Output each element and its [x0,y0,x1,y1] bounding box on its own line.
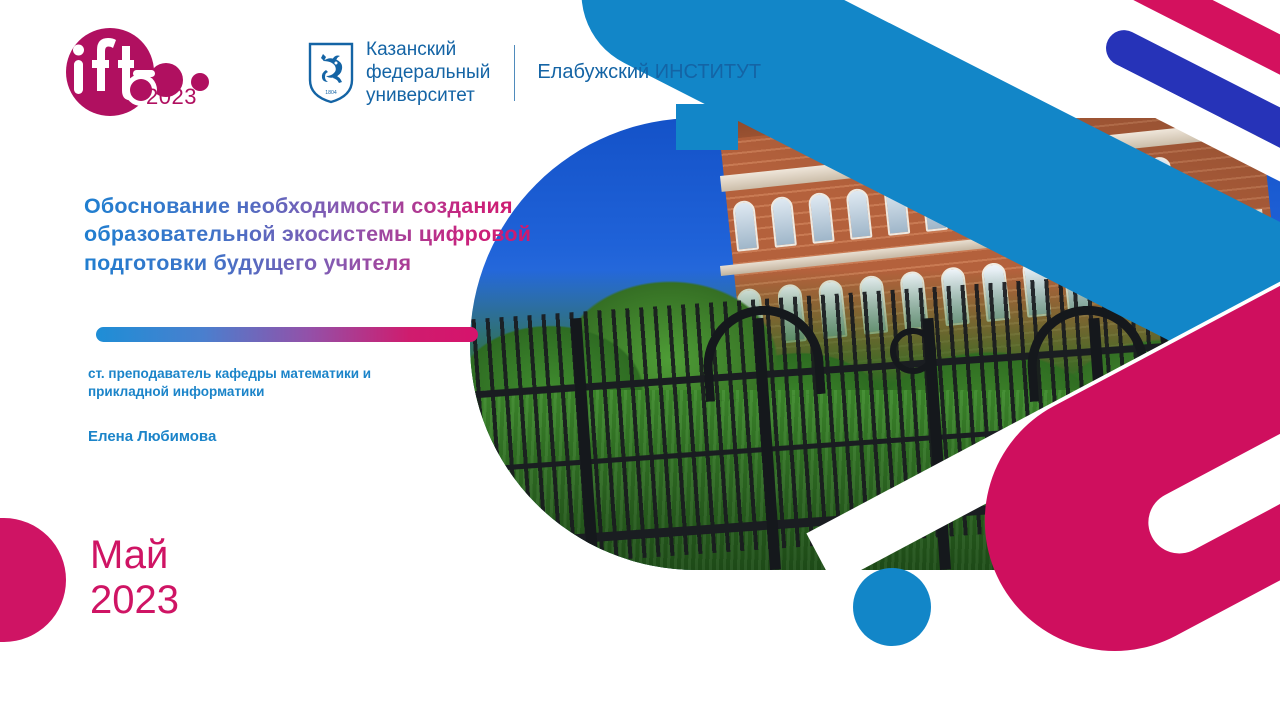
institute-name: Елабужский ИНСТИТУТ [537,61,761,84]
kfu-logo-lockup: 1804 Казанский федеральный университет Е… [308,38,761,108]
slide-content: 2023 1804 Казанский федеральный универси… [0,0,1280,720]
gradient-divider [96,327,478,342]
slide-date: Май 2023 [90,533,179,623]
ifte-logo-year: 2023 [146,84,197,110]
author-role: ст. преподаватель кафедры математики и п… [88,365,468,401]
kfu-name: Казанский федеральный университет [366,38,490,108]
page-title: Обоснование необходимости создания образ… [84,192,584,277]
kfu-divider [514,45,515,101]
kfu-shield-year: 1804 [325,90,337,96]
author-name: Елена Любимова [88,428,216,445]
kfu-shield-icon: 1804 [308,42,354,104]
presentation-slide: 2023 1804 Казанский федеральный универси… [0,0,1280,720]
